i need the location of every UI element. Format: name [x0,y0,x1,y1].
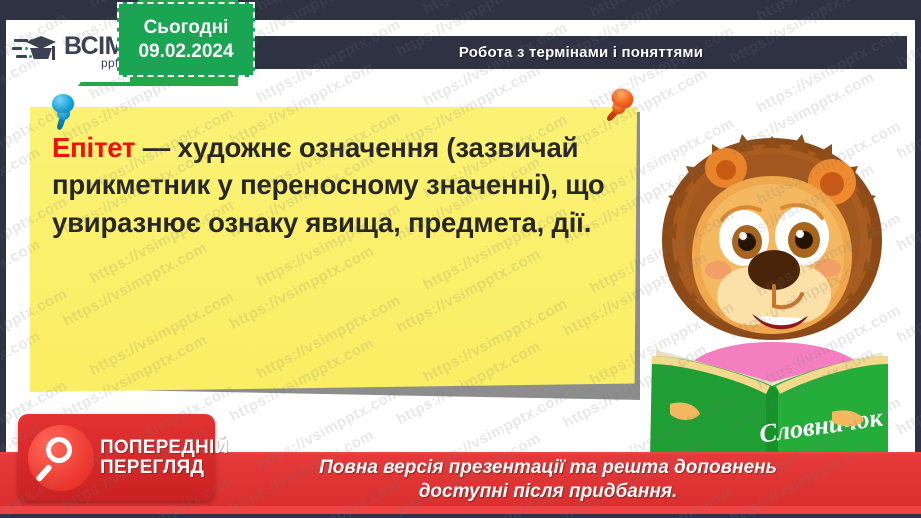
pushpin-blue-icon [44,92,82,132]
preview-button[interactable]: ПОПЕРЕДНІЙ ПЕРЕГЛЯД [18,414,215,501]
term-keyword: Епітет [52,132,135,163]
brand-logo: ВСІМ pptx [6,20,130,82]
date-badge-label: Сьогодні [144,16,229,40]
magnifier-icon [28,425,94,491]
brand-name: ВСІМ [64,34,125,59]
preview-button-line1: ПОПЕРЕДНІЙ [100,438,228,458]
page-title: Робота з термінами і поняттями [459,44,703,61]
today-date-badge: Сьогодні 09.02.2024 [117,2,255,77]
footer-message-line1: Повна версія презентації та решта доповн… [248,456,848,480]
footer-message-line2: доступні після придбання. [248,480,848,504]
definition-text: Епітет — художнє означення (зазвичай при… [52,129,621,241]
graduation-cap-icon [12,30,62,72]
definition-note: Епітет — художнє означення (зазвичай при… [30,107,637,392]
date-badge-value: 09.02.2024 [138,40,233,64]
header-bar: Робота з термінами і поняттями [255,36,907,69]
footer-message: Повна версія презентації та решта доповн… [248,456,848,504]
slide-root: ВСІМ pptx Сьогодні 09.02.2024 Робота з т… [0,0,921,518]
lion-reading-illustration: Словничок [626,128,916,458]
preview-button-line2: ПЕРЕГЛЯД [100,458,228,478]
term-definition: — художнє означення (зазвичай прикметник… [52,132,604,238]
